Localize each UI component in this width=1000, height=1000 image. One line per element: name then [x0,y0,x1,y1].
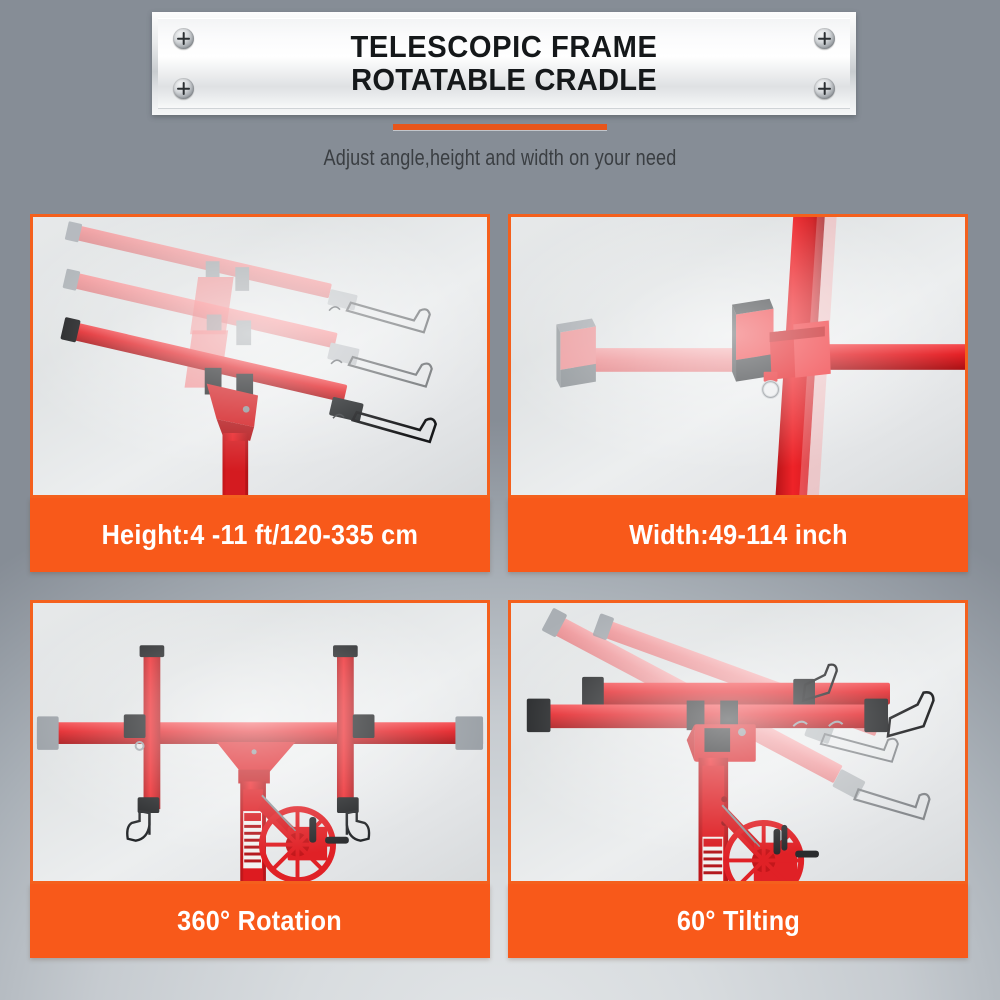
winch-assembly [720,805,819,881]
main-crossbar [37,722,483,744]
winch-handle [325,837,349,844]
cradle-tilting-illustration [511,603,965,881]
feature-caption-height: Height:4 -11 ft/120-335 cm [30,498,490,572]
ghost-extension-arm [556,318,761,387]
mast-collar-bracket [770,320,831,379]
drywall-lift-height-illustration [33,217,487,495]
feature-caption-width: Width:49-114 inch [508,498,968,572]
rotation-hub [217,742,296,783]
product-photo-rotation [30,600,490,884]
page-subtitle: Adjust angle,height and width on your ne… [90,145,910,171]
accent-divider [393,124,607,130]
feature-caption-rotation-text: 360° Rotation [178,905,343,937]
feature-card-tilting: 60° Tilting [508,600,968,958]
feature-card-width: Width:49-114 inch [508,214,968,572]
winch-assembly [258,795,349,880]
feature-caption-width-text: Width:49-114 inch [629,519,848,551]
title-plate: TELESCOPIC FRAME ROTATABLE CRADLE [152,12,856,115]
page-title: TELESCOPIC FRAME ROTATABLE CRADLE [173,30,835,98]
cradle-front-view-illustration [33,603,487,881]
header: TELESCOPIC FRAME ROTATABLE CRADLE Adjust… [0,0,1000,200]
locking-pin-ring [763,372,779,398]
product-photo-height [30,214,490,498]
feature-card-height: Height:4 -11 ft/120-335 cm [30,214,490,572]
feature-caption-tilting: 60° Tilting [508,884,968,958]
crossbar-end-cap-right [455,716,483,750]
feature-grid: Height:4 -11 ft/120-335 cm [30,214,970,960]
feature-caption-tilting-text: 60° Tilting [676,905,799,937]
title-plate-frame: TELESCOPIC FRAME ROTATABLE CRADLE [152,12,856,115]
crossbar-end-cap-left [37,716,59,750]
feature-caption-rotation: 360° Rotation [30,884,490,958]
feature-caption-height-text: Height:4 -11 ft/120-335 cm [102,519,419,551]
tilt-pivot-hub [687,724,756,762]
arm-end-cap-inner [732,299,773,382]
product-photo-tilting [508,600,968,884]
winch-handle [795,851,819,858]
feature-card-rotation: 360° Rotation [30,600,490,958]
ghost-end-cap [556,318,595,387]
product-photo-width [508,214,968,498]
page-title-line-1: TELESCOPIC FRAME [173,30,835,64]
telescoping-crossbar-illustration [511,217,965,495]
page-title-line-2: ROTATABLE CRADLE [173,64,835,98]
